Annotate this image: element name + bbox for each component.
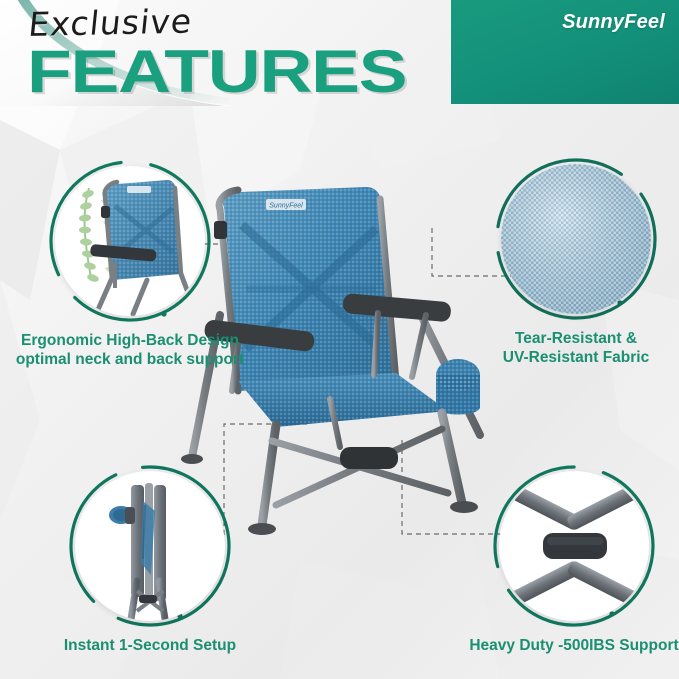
title-script: Exclusive [27,1,342,41]
callout-image-fabric [501,164,651,314]
caption-line-1: Ergonomic High-Back Design [21,332,239,349]
brand-banner: SunnyFeel [451,0,679,104]
title-main: FEATURES [27,43,406,100]
caption-line-1: Instant 1-Second Setup [64,637,236,654]
feature-callout-setup: Instant 1-Second Setup [66,462,279,656]
brand-logo: SunnyFeel [562,11,665,34]
callout-image-x-brace [499,471,649,621]
callout-image-ergonomic [55,166,205,316]
page-title: Exclusive FEATURES [27,8,338,100]
infographic-canvas: SunnyFeel Exclusive FEATURES [0,0,679,679]
feature-callout-heavy-duty: Heavy Duty -500IBS Support [490,462,679,656]
feature-caption-ergonomic: Ergonomic High-Back Design optimal neck … [0,332,276,370]
feature-caption-fabric: Tear-Resistant & UV-Resistant Fabric [430,330,679,368]
feature-callout-fabric: Tear-Resistant & UV-Resistant Fabric [492,155,679,368]
caption-line-2: UV-Resistant Fabric [430,349,679,368]
feature-callout-ergonomic: Ergonomic High-Back Design optimal neck … [46,157,276,370]
feature-caption-heavy-duty: Heavy Duty -500IBS Support [420,637,679,656]
callout-image-folded-chair [75,471,225,621]
feature-caption-setup: Instant 1-Second Setup [21,637,279,656]
caption-line-1: Heavy Duty -500IBS Support [469,637,678,654]
caption-line-1: Tear-Resistant & [515,330,637,347]
caption-line-2: optimal neck and back support [0,351,276,370]
